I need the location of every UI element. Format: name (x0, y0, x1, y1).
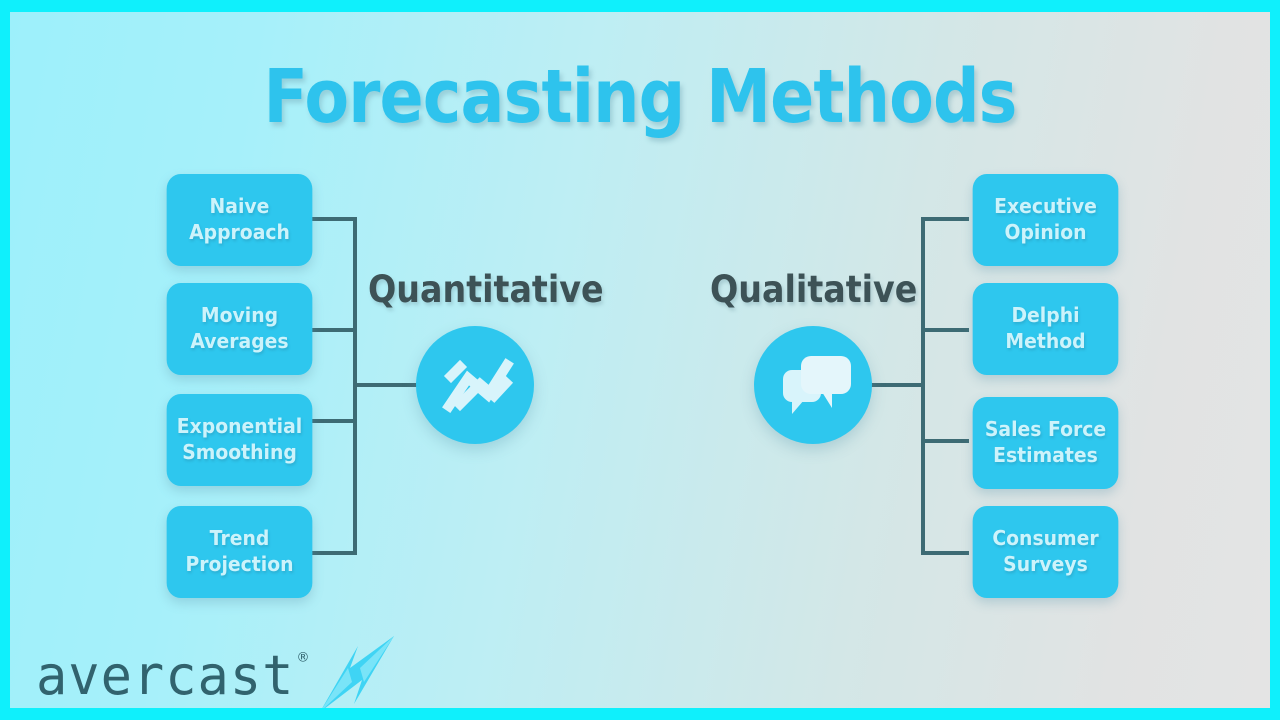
connector-stub-qual-4 (921, 551, 969, 555)
connector-stub-quant-4 (309, 551, 357, 555)
node-line-1: Consumer (992, 526, 1098, 552)
logo-wordmark: avercast ® (36, 649, 294, 704)
page-title: Forecasting Methods (86, 60, 1195, 134)
node-line-2: Estimates (993, 443, 1098, 469)
node-line-1: Exponential (177, 414, 302, 440)
node-line-1: Delphi (1011, 303, 1079, 329)
speech-bubbles-icon (754, 326, 872, 444)
node-line-2: Surveys (1003, 552, 1088, 578)
line-chart-icon (416, 326, 534, 444)
node-line-2: Opinion (1004, 220, 1086, 246)
node-line-2: Approach (189, 220, 290, 246)
logo-wordmark-text: avercast (36, 645, 294, 708)
connector-stub-qual-2 (921, 328, 969, 332)
node-line-2: Smoothing (182, 440, 297, 466)
method-node-delphi-method[interactable]: Delphi Method (973, 283, 1119, 375)
method-node-sales-force-estimates[interactable]: Sales Force Estimates (973, 397, 1119, 489)
branch-label-quantitative: Quantitative (368, 271, 604, 308)
method-node-consumer-surveys[interactable]: Consumer Surveys (973, 506, 1119, 598)
node-line-1: Naive (210, 194, 270, 220)
node-line-2: Projection (185, 552, 293, 578)
registered-trademark-symbol: ® (296, 651, 310, 665)
method-node-trend-projection[interactable]: Trend Projection (167, 506, 313, 598)
branch-label-qualitative: Qualitative (710, 271, 917, 308)
slide-canvas: Forecasting Methods Quantitative Naive (10, 12, 1270, 708)
qualitative-icon-circle[interactable] (754, 326, 872, 444)
method-node-naive-approach[interactable]: Naive Approach (167, 174, 313, 266)
connector-stub-quant-2 (309, 328, 357, 332)
connector-stub-quant-3 (309, 419, 357, 423)
connector-stub-qual-1 (921, 217, 969, 221)
connector-quant-to-circle (353, 383, 421, 387)
method-node-executive-opinion[interactable]: Executive Opinion (973, 174, 1119, 266)
slide-frame: Forecasting Methods Quantitative Naive (0, 0, 1280, 720)
node-line-1: Sales Force (985, 417, 1106, 443)
method-node-exponential-smoothing[interactable]: Exponential Smoothing (167, 394, 313, 486)
node-line-1: Moving (201, 303, 278, 329)
lightning-arrow-icon (310, 634, 402, 708)
connector-stub-qual-3 (921, 439, 969, 443)
avercast-logo[interactable]: avercast ® (36, 644, 402, 708)
connector-stub-quant-1 (309, 217, 357, 221)
method-node-moving-averages[interactable]: Moving Averages (167, 283, 313, 375)
node-line-2: Method (1005, 329, 1085, 355)
node-line-2: Averages (190, 329, 288, 355)
node-line-1: Trend (210, 526, 270, 552)
node-line-1: Executive (994, 194, 1097, 220)
quantitative-icon-circle[interactable] (416, 326, 534, 444)
